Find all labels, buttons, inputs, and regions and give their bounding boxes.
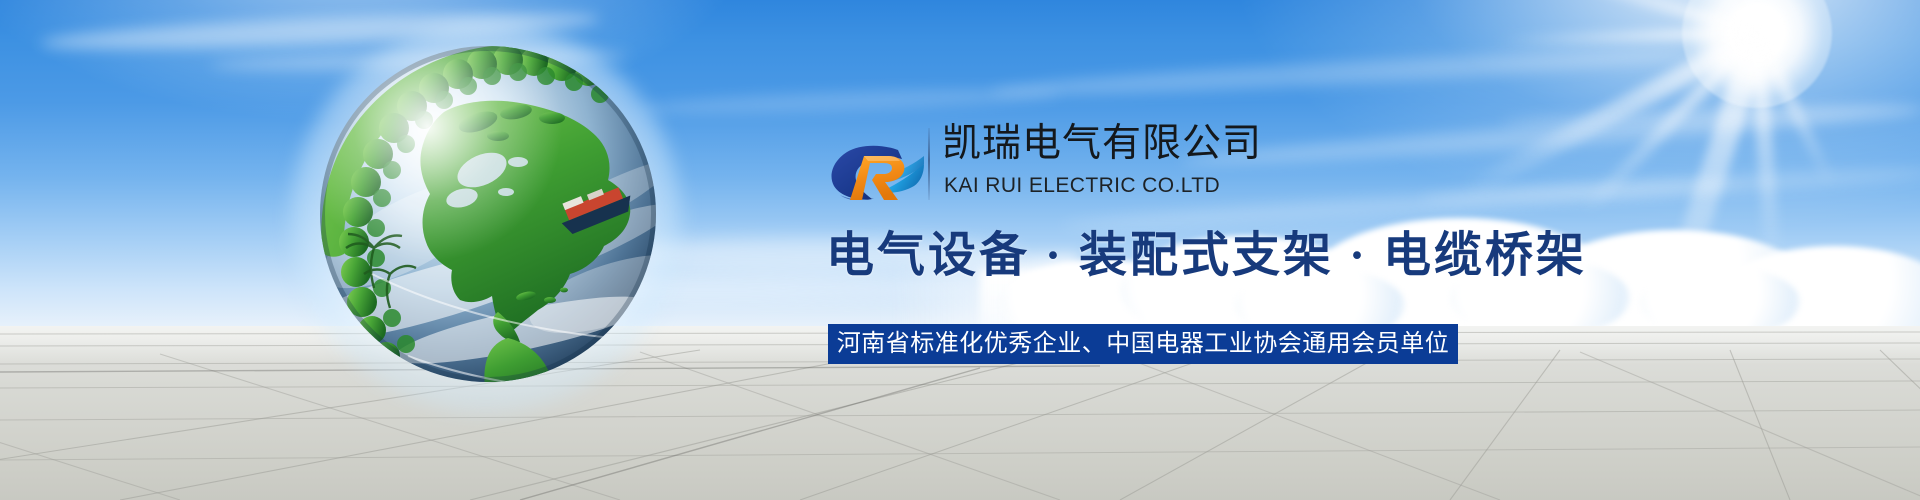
credentials-badge-text: 河南省标准化优秀企业、中国电器工业协会通用会员单位	[837, 330, 1450, 358]
globe-icon	[312, 38, 664, 390]
company-name-cn: 凯瑞电气有限公司	[942, 122, 1262, 166]
logo-divider	[928, 128, 930, 200]
company-name-en: KAI RUI ELECTRIC CO.LTD	[944, 173, 1220, 199]
credentials-badge: 河南省标准化优秀企业、中国电器工业协会通用会员单位	[828, 324, 1458, 364]
eco-globe-image	[276, 16, 696, 416]
cr-monogram-logo-icon	[828, 144, 924, 200]
brand-logo-block[interactable]: 凯瑞电气有限公司 KAI RUI ELECTRIC CO.LTD	[828, 118, 1488, 214]
hero-banner: 凯瑞电气有限公司 KAI RUI ELECTRIC CO.LTD 电气设备 · …	[0, 0, 1920, 500]
hero-tagline: 电气设备 · 装配式支架 · 电缆桥架	[826, 227, 1587, 285]
